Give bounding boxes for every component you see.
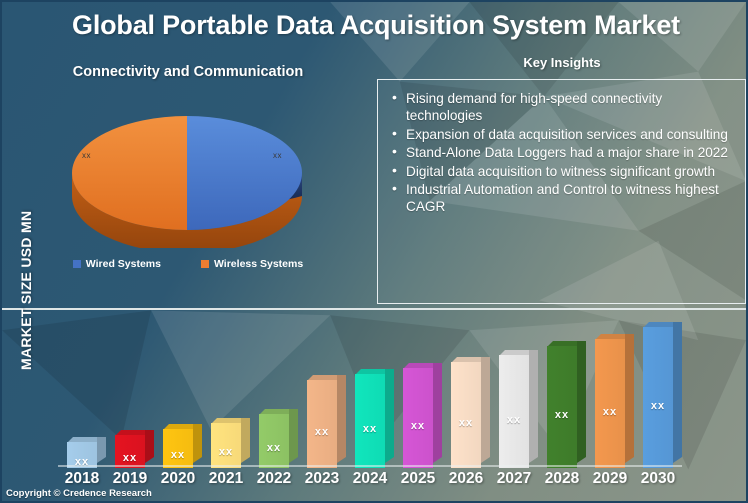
bar-2022: xx	[259, 414, 289, 468]
key-insights-box: Rising demand for high-speed connectivit…	[377, 79, 746, 304]
bar-face	[403, 368, 433, 468]
copyright-notice: Copyright © Credence Research	[6, 488, 152, 499]
bar-value-label: xx	[259, 442, 289, 454]
bar-value-label: xx	[355, 423, 385, 435]
legend-label-wired: Wired Systems	[86, 258, 161, 270]
bar-side-face	[145, 430, 154, 463]
bar-chart-baseline	[58, 465, 682, 467]
pie-slice-label-wired: xx	[273, 151, 282, 160]
pie-legend: Wired Systems Wireless Systems	[2, 258, 374, 270]
bar-side-face	[481, 357, 490, 463]
list-item: Stand-Alone Data Loggers had a major sha…	[384, 144, 735, 161]
bar-side-face	[193, 424, 202, 463]
bar-2023: xx	[307, 380, 337, 468]
bar-face	[451, 362, 481, 468]
list-item: Rising demand for high-speed connectivit…	[384, 90, 735, 125]
bar-face	[355, 374, 385, 468]
x-axis-tick-2024: 2024	[346, 470, 394, 488]
key-insights-title: Key Insights	[378, 55, 746, 70]
bar-value-label: xx	[211, 446, 241, 458]
x-axis-tick-2026: 2026	[442, 470, 490, 488]
x-axis-tick-2022: 2022	[250, 470, 298, 488]
bar-2024: xx	[355, 374, 385, 468]
bar-side-face	[97, 437, 106, 463]
bar-2030: xx	[643, 327, 673, 468]
bar-value-label: xx	[547, 409, 577, 421]
bar-face	[643, 327, 673, 468]
bar-chart-plot: xxxxxxxxxxxxxxxxxxxxxxxxxx	[58, 310, 738, 468]
bar-2020: xx	[163, 429, 193, 468]
list-item: Digital data acquisition to witness sign…	[384, 163, 735, 180]
bar-value-label: xx	[163, 449, 193, 461]
bar-value-label: xx	[451, 417, 481, 429]
bar-value-label: xx	[115, 452, 145, 464]
x-axis-tick-2025: 2025	[394, 470, 442, 488]
legend-swatch-icon-wireless	[201, 260, 209, 268]
bar-side-face	[673, 322, 682, 463]
bar-chart-panel: MARKET SIZE USD MN xxxxxxxxxxxxxxxxxxxxx…	[2, 310, 748, 503]
pie-slice-label-wireless: xx	[82, 151, 91, 160]
page-title: Global Portable Data Acquisition System …	[2, 10, 748, 41]
legend-label-wireless: Wireless Systems	[214, 258, 303, 270]
pie-chart-title: Connectivity and Communication	[2, 64, 374, 80]
x-axis-tick-2023: 2023	[298, 470, 346, 488]
bar-side-face	[241, 418, 250, 463]
x-axis-tick-2029: 2029	[586, 470, 634, 488]
bar-face	[259, 414, 289, 468]
pie-chart-svg	[62, 98, 312, 248]
bar-value-label: xx	[403, 420, 433, 432]
x-axis-tick-2027: 2027	[490, 470, 538, 488]
pie-chart-panel: Connectivity and Communication	[2, 60, 374, 308]
bar-2027: xx	[499, 355, 529, 468]
bar-side-face	[289, 409, 298, 463]
bar-2028: xx	[547, 346, 577, 468]
bar-value-label: xx	[499, 414, 529, 426]
bar-side-face	[385, 369, 394, 463]
bar-side-face	[625, 334, 634, 463]
bar-face	[595, 339, 625, 468]
x-axis-tick-2020: 2020	[154, 470, 202, 488]
bar-side-face	[529, 350, 538, 463]
bar-value-label: xx	[643, 400, 673, 412]
bar-value-label: xx	[595, 406, 625, 418]
legend-item-wireless[interactable]: Wireless Systems	[201, 258, 303, 270]
x-axis-tick-2021: 2021	[202, 470, 250, 488]
bar-value-label: xx	[307, 426, 337, 438]
pie-chart: xx xx	[62, 98, 312, 248]
x-axis-tick-2019: 2019	[106, 470, 154, 488]
bar-side-face	[577, 341, 586, 463]
bar-face	[499, 355, 529, 468]
x-axis-tick-2028: 2028	[538, 470, 586, 488]
bar-2021: xx	[211, 423, 241, 468]
legend-item-wired[interactable]: Wired Systems	[73, 258, 161, 270]
x-axis-tick-2030: 2030	[634, 470, 682, 488]
bar-side-face	[337, 375, 346, 463]
bar-2026: xx	[451, 362, 481, 468]
bar-2025: xx	[403, 368, 433, 468]
legend-swatch-icon-wired	[73, 260, 81, 268]
bar-side-face	[433, 363, 442, 463]
bar-chart-y-axis-label: MARKET SIZE USD MN	[18, 211, 34, 370]
infographic-canvas: Global Portable Data Acquisition System …	[0, 0, 748, 503]
bar-face	[307, 380, 337, 468]
bar-2029: xx	[595, 339, 625, 468]
list-item: Industrial Automation and Control to wit…	[384, 181, 735, 216]
bar-2019: xx	[115, 435, 145, 468]
list-item: Expansion of data acquisition services a…	[384, 126, 735, 143]
key-insights-list: Rising demand for high-speed connectivit…	[384, 90, 735, 216]
x-axis-tick-2018: 2018	[58, 470, 106, 488]
bar-face	[547, 346, 577, 468]
